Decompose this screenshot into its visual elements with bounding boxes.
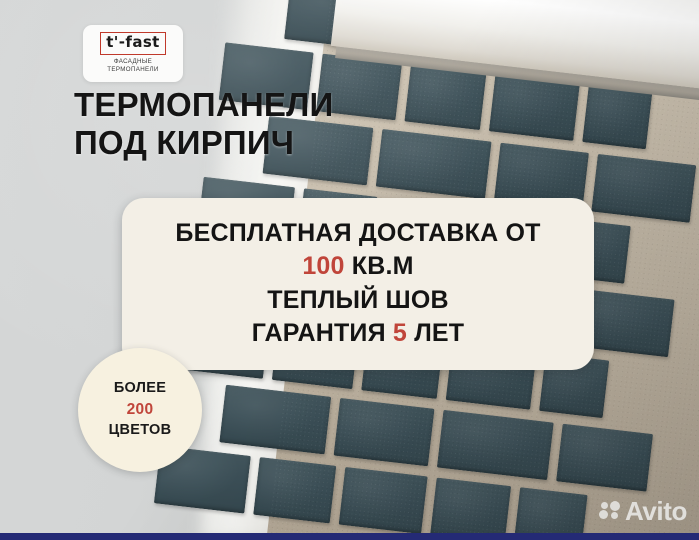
offer-warranty-number: 5 xyxy=(393,319,407,347)
brand-wordmark: t'-fast xyxy=(100,32,166,55)
offer-area-unit: КВ.М xyxy=(352,252,414,280)
avito-watermark: Avito xyxy=(599,498,687,524)
colors-badge-number: 200 xyxy=(127,400,154,421)
brick xyxy=(339,467,427,534)
offer-line-delivery: БЕСПЛАТНАЯ ДОСТАВКА ОТ xyxy=(175,217,540,250)
offer-line-warranty: ГАРАНТИЯ 5 ЛЕТ xyxy=(252,317,465,350)
brand-tagline-line1: ФАСАДНЫЕ xyxy=(107,58,158,67)
offer-callout-card: БЕСПЛАТНАЯ ДОСТАВКА ОТ 100 КВ.М ТЕПЛЫЙ Ш… xyxy=(122,198,594,370)
brick xyxy=(591,154,696,223)
offer-warranty-suffix: ЛЕТ xyxy=(414,319,464,347)
offer-line-area: 100 КВ.М xyxy=(302,250,413,283)
headline-line-2: ПОД КИРПИЧ xyxy=(74,124,333,162)
brand-logo-card: t'-fast ФАСАДНЫЕ ТЕРМОПАНЕЛИ xyxy=(83,25,183,82)
brand-tagline-line2: ТЕРМОПАНЕЛИ xyxy=(107,66,158,75)
advertisement-image: t'-fast ФАСАДНЫЕ ТЕРМОПАНЕЛИ ТЕРМОПАНЕЛИ… xyxy=(0,0,699,540)
brand-tagline: ФАСАДНЫЕ ТЕРМОПАНЕЛИ xyxy=(107,58,158,76)
brick xyxy=(430,477,511,540)
offer-line-warm-seam: ТЕПЛЫЙ ШОВ xyxy=(267,284,448,317)
brick xyxy=(436,410,553,480)
colors-count-badge: БОЛЕЕ 200 ЦВЕТОВ xyxy=(78,348,202,472)
headline-line-1: ТЕРМОПАНЕЛИ xyxy=(74,86,333,124)
offer-warranty-prefix: ГАРАНТИЯ xyxy=(252,319,386,347)
brick xyxy=(556,424,654,492)
brick xyxy=(582,84,652,149)
avito-logo-icon xyxy=(599,501,621,521)
bottom-accent-strip xyxy=(0,533,699,540)
offer-area-number: 100 xyxy=(302,252,344,280)
brick xyxy=(253,457,337,524)
brick xyxy=(333,398,434,467)
brick xyxy=(219,385,331,455)
colors-badge-line-3: ЦВЕТОВ xyxy=(109,421,172,440)
colors-badge-line-1: БОЛЕЕ xyxy=(114,379,166,398)
brick xyxy=(375,129,491,199)
avito-wordmark: Avito xyxy=(625,498,687,524)
headline: ТЕРМОПАНЕЛИ ПОД КИРПИЧ xyxy=(74,86,333,161)
